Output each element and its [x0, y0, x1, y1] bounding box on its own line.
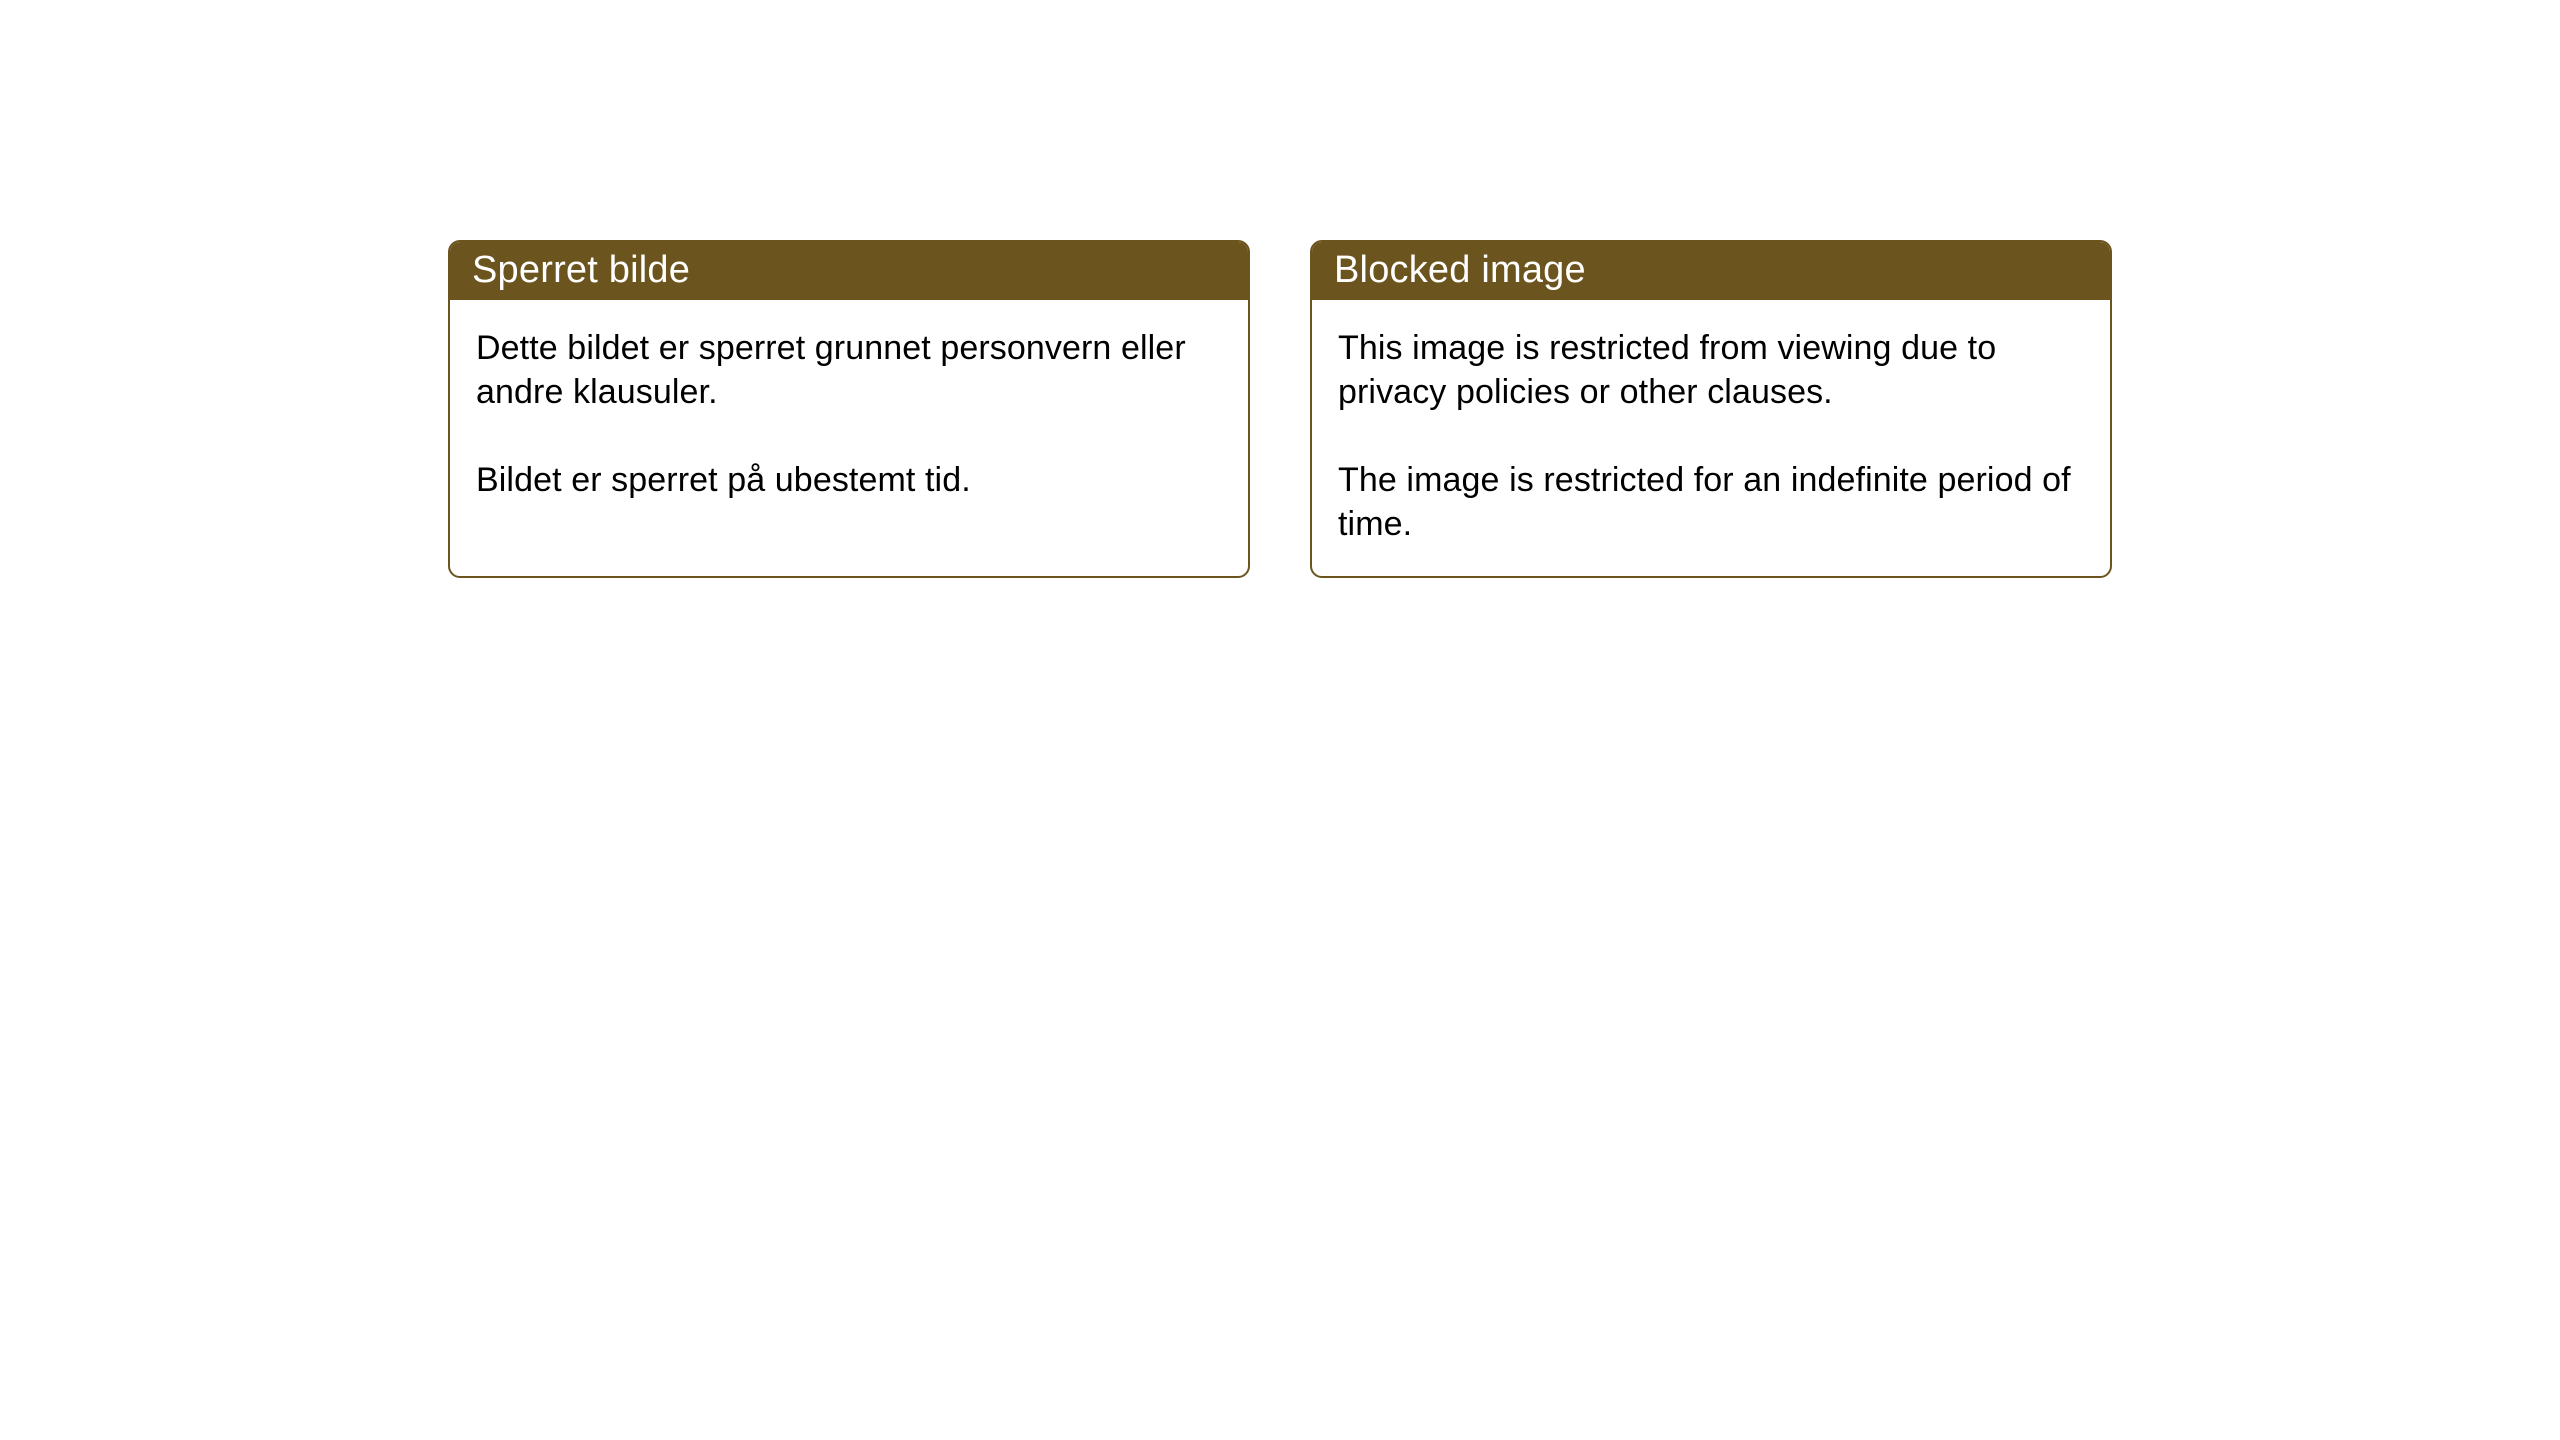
card-paragraph-privacy-norwegian: Dette bildet er sperret grunnet personve…: [476, 326, 1222, 414]
card-title-english: Blocked image: [1334, 251, 1586, 289]
card-paragraph-duration-english: The image is restricted for an indefinit…: [1338, 458, 2084, 546]
card-body-english: This image is restricted from viewing du…: [1312, 300, 2110, 576]
blocked-image-card-english: Blocked image This image is restricted f…: [1310, 240, 2112, 578]
card-paragraph-privacy-english: This image is restricted from viewing du…: [1338, 326, 2084, 414]
card-title-norwegian: Sperret bilde: [472, 251, 690, 289]
blocked-image-notice-area: Sperret bilde Dette bildet er sperret gr…: [448, 240, 2112, 578]
blocked-image-card-norwegian: Sperret bilde Dette bildet er sperret gr…: [448, 240, 1250, 578]
card-body-norwegian: Dette bildet er sperret grunnet personve…: [450, 300, 1248, 576]
card-header-english: Blocked image: [1310, 240, 2112, 300]
card-paragraph-duration-norwegian: Bildet er sperret på ubestemt tid.: [476, 458, 1222, 502]
card-header-norwegian: Sperret bilde: [448, 240, 1250, 300]
